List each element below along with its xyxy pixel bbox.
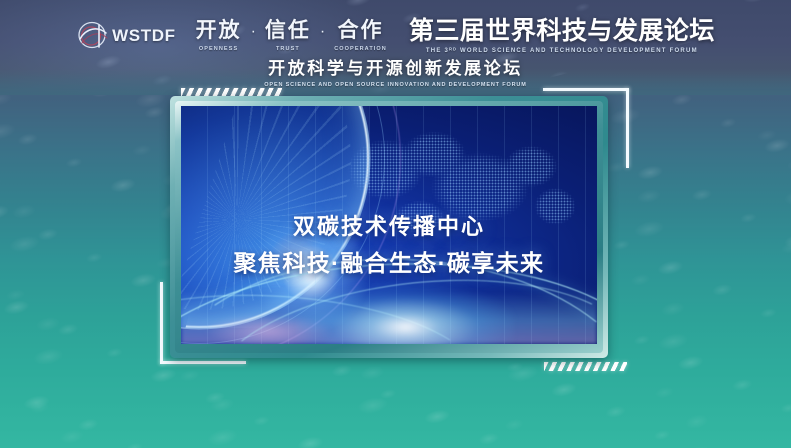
wstdf-globe-swoosh-icon: [76, 19, 110, 53]
streak-center-glow: [297, 284, 513, 344]
slogan-item-openness: 开放 OPENNESS: [196, 20, 242, 51]
slogan-cn: 开放: [196, 20, 242, 42]
slogan-separator: ·: [251, 24, 256, 52]
subtitle-en: OPEN SCIENCE AND OPEN SOURCE INNOVATION …: [264, 82, 526, 88]
forum-title-block: 第三届世界科技与发展论坛 THE 3ᴿᴰ WORLD SCIENCE AND T…: [409, 18, 715, 54]
slogan-en: COOPERATION: [334, 46, 387, 52]
slide-text-block: 双碳技术传播中心 聚焦科技·融合生态·碳享未来: [181, 215, 597, 275]
slogan-item-cooperation: 合作 COOPERATION: [334, 20, 387, 51]
subtitle-cn: 开放科学与开源创新发展论坛: [268, 60, 523, 79]
wstdf-wordmark: WSTDF: [112, 26, 175, 46]
slogan-separator: ·: [320, 24, 325, 52]
monitor-bezel: 双碳技术传播中心 聚焦科技·融合生态·碳享未来: [170, 96, 608, 358]
event-banner: WSTDF 开放 OPENNESS · 信任 TRUST · 合作 COOPER…: [0, 0, 791, 95]
hatch-bottom-right: [544, 362, 627, 371]
slide-headline: 双碳技术传播中心: [293, 215, 485, 239]
slogan-cn: 信任: [265, 20, 311, 42]
banner-slogan: 开放 OPENNESS · 信任 TRUST · 合作 COOPERATION: [196, 20, 387, 51]
slogan-en: TRUST: [276, 46, 300, 52]
display-monitor: 双碳技术传播中心 聚焦科技·融合生态·碳享未来: [170, 96, 608, 358]
wstdf-logo: WSTDF: [76, 19, 175, 53]
banner-primary-row: WSTDF 开放 OPENNESS · 信任 TRUST · 合作 COOPER…: [0, 14, 791, 58]
slogan-cn: 合作: [338, 20, 384, 42]
forum-title-en: THE 3ᴿᴰ WORLD SCIENCE AND TECHNOLOGY DEV…: [426, 48, 698, 54]
banner-subtitle-row: 开放科学与开源创新发展论坛 OPEN SCIENCE AND OPEN SOUR…: [0, 60, 791, 88]
slogan-en: OPENNESS: [199, 46, 238, 52]
monitor-screen: 双碳技术传播中心 聚焦科技·融合生态·碳享未来: [181, 106, 597, 344]
slide-canvas: WSTDF 开放 OPENNESS · 信任 TRUST · 合作 COOPER…: [0, 0, 791, 448]
slogan-item-trust: 信任 TRUST: [265, 20, 311, 51]
slide-tagline: 聚焦科技·融合生态·碳享未来: [234, 251, 545, 276]
forum-title-cn: 第三届世界科技与发展论坛: [409, 18, 715, 44]
